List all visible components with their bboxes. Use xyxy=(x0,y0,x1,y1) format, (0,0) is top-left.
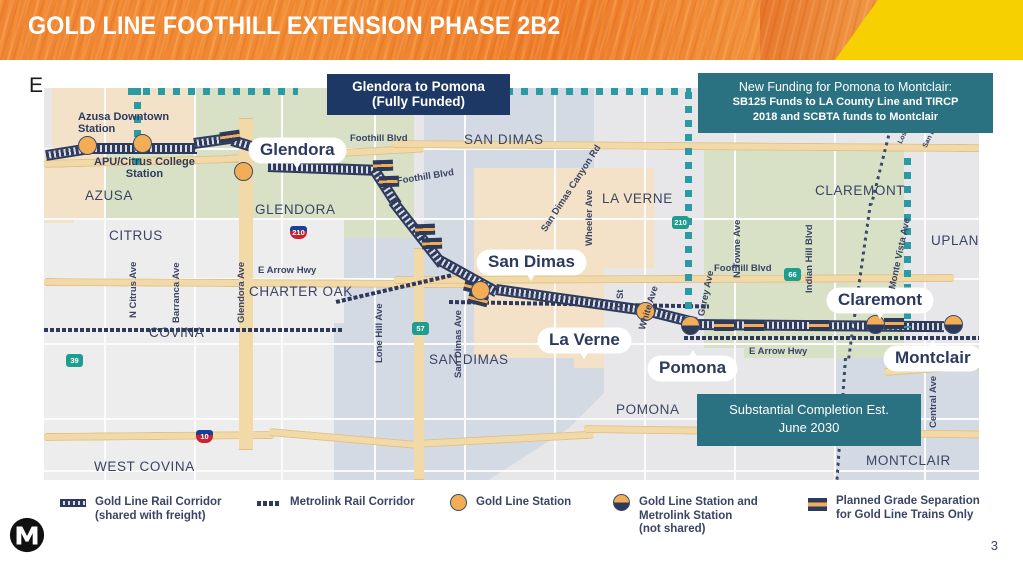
legend-item-metrolink-corridor: Metrolink Rail Corridor xyxy=(257,496,432,510)
street-indian-hill-blvd: Indian Hill Blvd xyxy=(804,224,815,293)
station-azusa-downtown[interactable] xyxy=(78,136,97,155)
shield-66: 66 xyxy=(784,268,801,281)
city-san-dimas-south: SAN DIMAS xyxy=(429,352,509,367)
city-citrus: CITRUS xyxy=(109,228,163,243)
callout-la-verne-label: La Verne xyxy=(549,330,620,349)
station-san-dimas[interactable] xyxy=(471,281,490,300)
gold-line-corridor-icon xyxy=(60,499,86,507)
grade-separation xyxy=(809,320,829,331)
metro-m-logo xyxy=(8,516,46,554)
banner-substantial-completion: Substantial Completion Est. June 2030 xyxy=(697,394,921,446)
legend-item-gold-line-metrolink-station: Gold Line Station and Metrolink Station … xyxy=(613,494,793,537)
grade-separation xyxy=(744,320,764,331)
banner-line1: New Funding for Pomona to Montclair: xyxy=(704,80,987,95)
legend-line2: (shared with freight) xyxy=(95,510,222,524)
street-foothill-blvd-1: Foothill Blvd xyxy=(350,133,408,144)
legend-line2: Metrolink Station xyxy=(639,510,758,524)
station-montclair[interactable] xyxy=(944,315,963,334)
street-e-arrow-hwy-1: E Arrow Hwy xyxy=(258,265,316,276)
banner-glendora-to-pomona: Glendora to Pomona (Fully Funded) xyxy=(327,74,510,115)
legend-text: Planned Grade Separation for Gold Line T… xyxy=(836,495,980,522)
street-wheeler-ave: Wheeler Ave xyxy=(584,190,595,246)
label-apu-citrus-college-station: APU/Citrus College Station xyxy=(94,156,195,180)
legend-line1: Gold Line Station xyxy=(476,496,571,510)
banner-new-funding: New Funding for Pomona to Montclair: SB1… xyxy=(698,73,993,133)
city-pomona: POMONA xyxy=(616,402,680,417)
slide-header: GOLD LINE FOOTHILL EXTENSION PHASE 2B2 xyxy=(0,0,1023,60)
shield-39: 39 xyxy=(66,354,83,367)
callout-claremont[interactable]: Claremont xyxy=(827,288,933,313)
legend-line1: Metrolink Rail Corridor xyxy=(290,496,415,510)
station-pomona[interactable] xyxy=(681,316,700,335)
legend-line1: Gold Line Station and xyxy=(639,496,758,510)
shield-i10: 10 xyxy=(196,430,213,443)
city-upland: UPLAND xyxy=(931,233,979,248)
grade-separation xyxy=(373,160,393,172)
grade-separation xyxy=(884,318,904,329)
grade-separation xyxy=(714,320,734,331)
legend-item-gold-line-station: Gold Line Station xyxy=(450,494,600,511)
legend-line2: for Gold Line Trains Only xyxy=(836,509,980,523)
callout-la-verne[interactable]: La Verne xyxy=(538,328,631,353)
page-title: GOLD LINE FOOTHILL EXTENSION PHASE 2B2 xyxy=(28,12,560,41)
street-central-ave: Central Ave xyxy=(928,376,939,428)
grade-separation xyxy=(415,224,435,236)
grade-separation xyxy=(422,238,442,250)
grade-separation-icon xyxy=(808,498,827,511)
street-e-st: E St xyxy=(615,290,626,308)
gold-line-metrolink-station-icon xyxy=(613,494,630,511)
banner-line2: June 2030 xyxy=(703,419,915,437)
teal-dotted-segment xyxy=(685,92,692,322)
legend-line3: (not shared) xyxy=(639,523,758,537)
metrolink-corridor-icon xyxy=(257,501,281,506)
city-la-verne: LA VERNE xyxy=(602,191,673,206)
teal-dotted-segment xyxy=(128,88,298,95)
legend-line1: Gold Line Rail Corridor xyxy=(95,496,222,510)
legend-item-gold-line-corridor: Gold Line Rail Corridor (shared with fre… xyxy=(60,496,230,523)
city-west-covina: WEST COVINA xyxy=(94,459,195,474)
city-claremont: CLAREMONT xyxy=(815,183,905,198)
map-legend: Gold Line Rail Corridor (shared with fre… xyxy=(0,488,1023,548)
street-n-towne-ave: N Towne Ave xyxy=(732,220,743,278)
page-number: 3 xyxy=(991,538,998,553)
label-line2: Station xyxy=(78,123,169,135)
teal-dotted-segment xyxy=(506,88,691,95)
grid-street xyxy=(44,218,979,220)
callout-pomona[interactable]: Pomona xyxy=(648,356,737,381)
label-line2: Station xyxy=(94,168,195,180)
banner-line2: (Fully Funded) xyxy=(331,94,506,109)
corner-letter: E xyxy=(29,74,43,98)
gold-line-station-icon xyxy=(450,494,467,511)
city-glendora: GLENDORA xyxy=(255,202,336,217)
station-glendora[interactable] xyxy=(234,162,253,181)
callout-san-dimas[interactable]: San Dimas xyxy=(477,250,586,275)
label-azusa-downtown-station: Azusa Downtown Station xyxy=(78,111,169,135)
city-montclair: MONTCLAIR xyxy=(866,453,951,468)
shield-210: 210 xyxy=(672,216,689,229)
callout-montclair[interactable]: Montclair xyxy=(884,346,979,371)
legend-line1: Planned Grade Separation xyxy=(836,495,980,509)
header-orange-wedge xyxy=(760,0,1023,60)
legend-text: Gold Line Station xyxy=(476,496,571,510)
banner-line3: 2018 and SCBTA funds to Montclair xyxy=(704,110,987,125)
label-line1: Azusa Downtown xyxy=(78,111,169,123)
legend-text: Gold Line Rail Corridor (shared with fre… xyxy=(95,496,222,523)
station-apu-citrus-college[interactable] xyxy=(133,134,152,153)
city-azusa: AZUSA xyxy=(85,188,133,203)
legend-item-grade-separation: Planned Grade Separation for Gold Line T… xyxy=(808,495,1008,522)
callout-glendora[interactable]: Glendora xyxy=(249,138,346,163)
street-n-citrus-ave: N Citrus Ave xyxy=(128,262,139,318)
street-e-arrow-hwy-2: E Arrow Hwy xyxy=(749,346,807,357)
city-covina: COVINA xyxy=(149,325,204,340)
legend-text: Gold Line Station and Metrolink Station … xyxy=(639,496,758,537)
banner-line1: Substantial Completion Est. xyxy=(703,401,915,419)
shield-i210: 210 xyxy=(290,226,307,239)
street-glendora-ave: Glendora Ave xyxy=(236,262,247,323)
city-san-dimas-north: SAN DIMAS xyxy=(464,132,544,147)
banner-line1: Glendora to Pomona xyxy=(331,79,506,94)
legend-text: Metrolink Rail Corridor xyxy=(290,496,415,510)
banner-line2: SB125 Funds to LA County Line and TIRCP xyxy=(704,95,987,110)
grid-street xyxy=(44,343,979,345)
street-lone-hill-ave: Lone Hill Ave xyxy=(374,304,385,363)
label-line1: APU/Citrus College xyxy=(94,156,195,168)
shield-57: 57 xyxy=(412,322,429,335)
street-barranca-ave: Barranca Ave xyxy=(171,262,182,323)
street-san-dimas-ave: San Dimas Ave xyxy=(453,310,464,378)
city-charter-oak: CHARTER OAK xyxy=(249,284,353,299)
